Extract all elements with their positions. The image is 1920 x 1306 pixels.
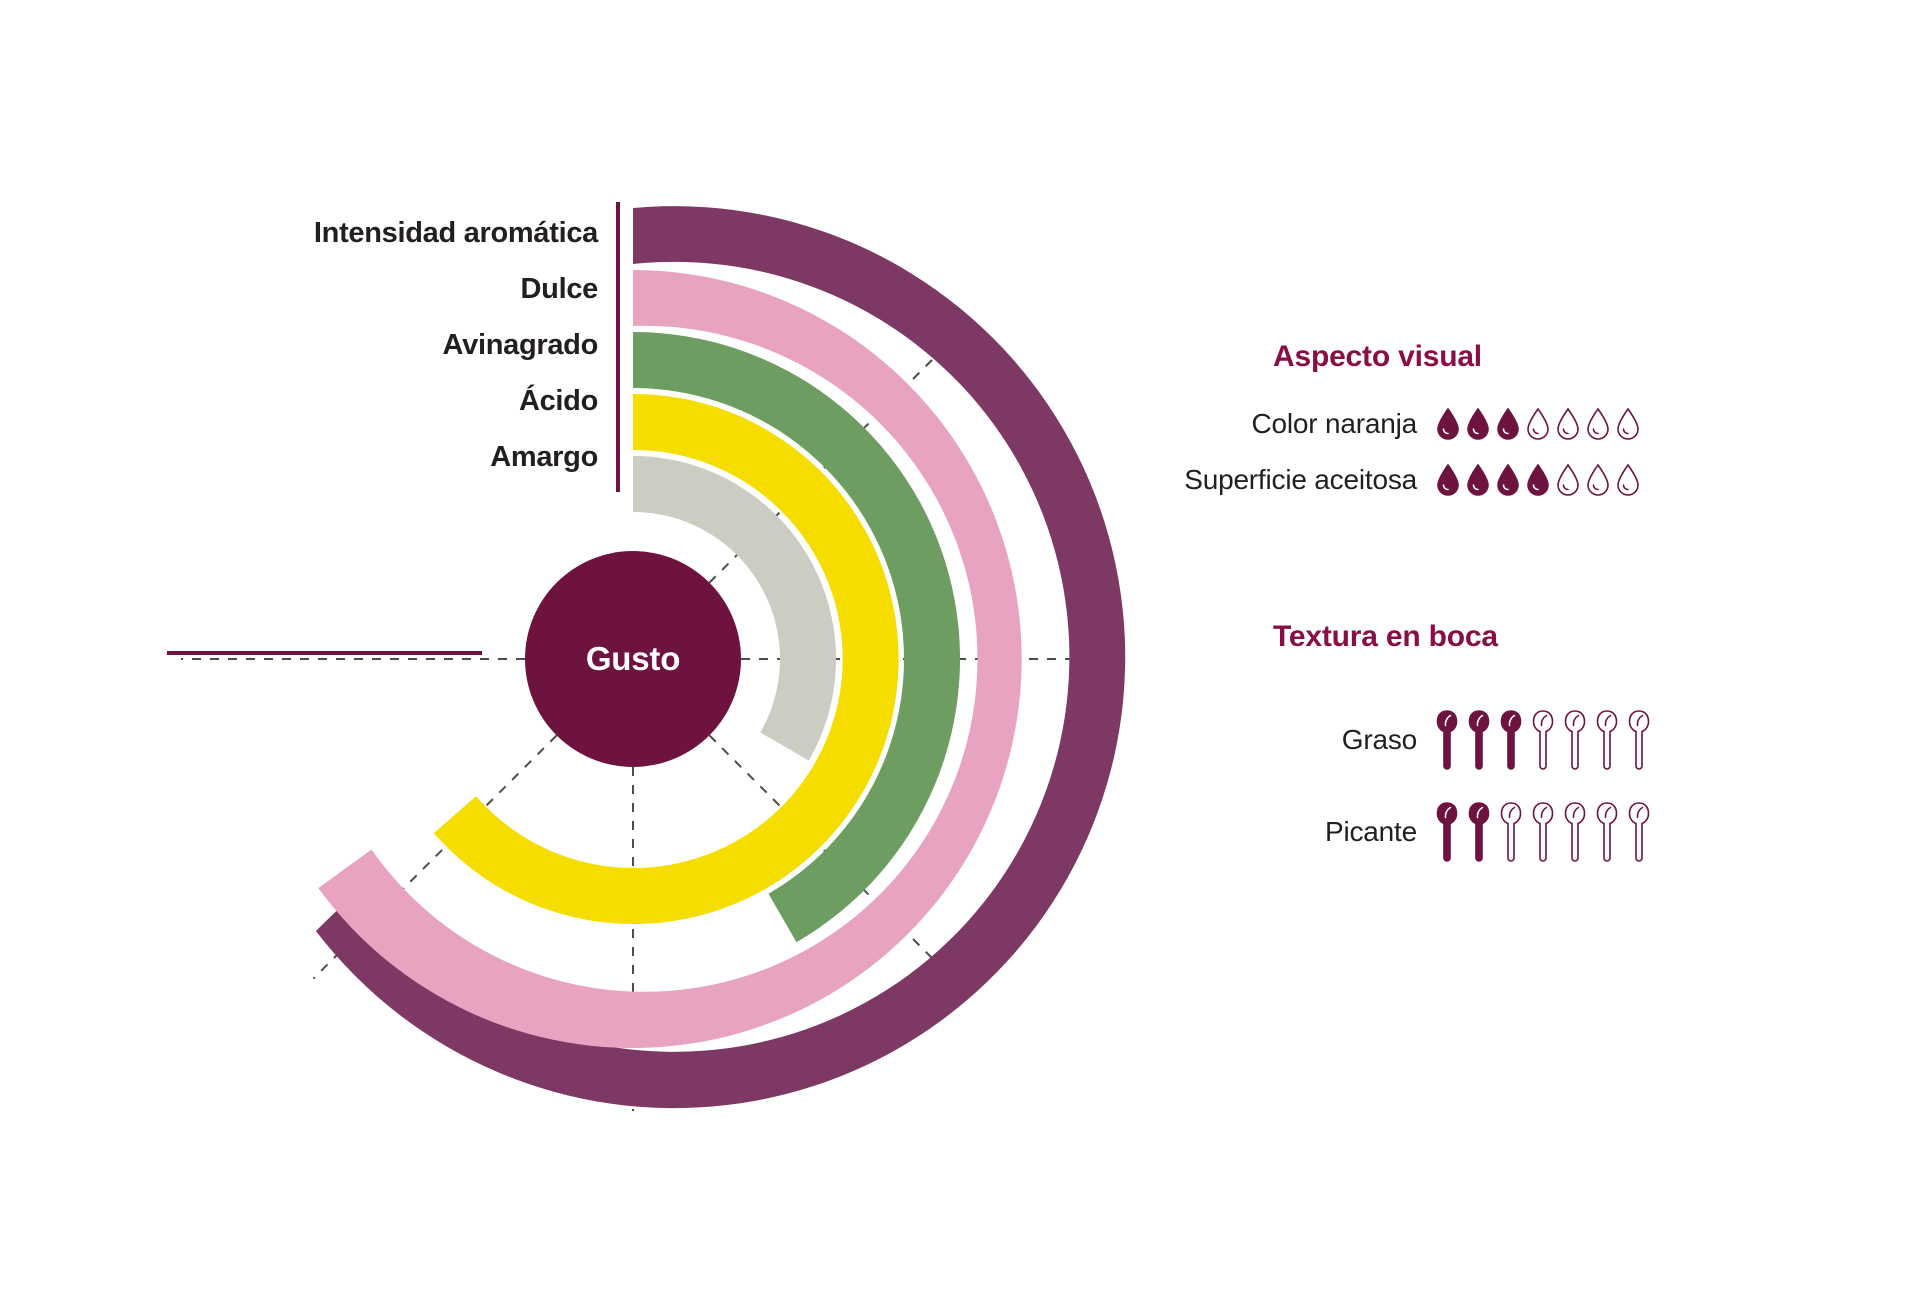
drop-icon [1525,463,1551,497]
rating-row-color-naranja: Color naranja [1160,396,1920,452]
drop-icon [1615,407,1641,441]
rating-drops-color-naranja [1435,407,1641,441]
rating-spoons-graso [1435,710,1651,770]
spoon-icon-filled [1499,710,1523,770]
spoon-icon [1467,710,1491,770]
drop-icon [1555,407,1581,441]
drop-icon-empty [1585,463,1611,497]
drop-icon-filled [1465,463,1491,497]
drop-icon [1465,463,1491,497]
drop-icon-empty [1555,463,1581,497]
drop-icon-filled [1435,463,1461,497]
drop-icon-empty [1525,407,1551,441]
spoon-icon [1435,802,1459,862]
drop-icon-empty [1585,407,1611,441]
spoon-icon [1499,802,1523,862]
drop-icon-filled [1495,407,1521,441]
spoon-icon [1563,802,1587,862]
axis-label-amargo: Amargo [120,429,598,485]
axis-label-dulce: Dulce [120,261,598,317]
aspecto-visual-group: Aspecto visual Color naranja Superficie … [1160,340,1920,508]
drop-icon [1495,463,1521,497]
spoon-icon [1499,710,1523,770]
spoon-icon-filled [1467,710,1491,770]
drop-icon-filled [1495,463,1521,497]
spoon-icon [1595,710,1619,770]
drop-icon-empty [1615,463,1641,497]
rating-label-color-naranja: Color naranja [1160,408,1435,440]
gusto-center-bubble: Gusto [525,551,741,767]
axis-rule [616,202,620,492]
gusto-label: Gusto [586,640,680,678]
rating-drops-superficie-aceitosa [1435,463,1641,497]
spoon-icon-empty [1595,802,1619,862]
aspecto-visual-title: Aspecto visual [1160,340,1920,374]
drop-icon-filled [1435,407,1461,441]
rating-row-superficie-aceitosa: Superficie aceitosa [1160,452,1920,508]
drop-icon-empty [1615,407,1641,441]
spoon-icon [1467,802,1491,862]
drop-icon [1585,407,1611,441]
rating-label-picante: Picante [1160,816,1435,848]
spoon-icon-filled [1467,802,1491,862]
drop-icon [1435,463,1461,497]
spoon-icon-filled [1435,802,1459,862]
drop-icon-filled [1525,463,1551,497]
axis-label-intensidad-aromatica: Intensidad aromática [120,205,598,261]
spoon-icon [1627,802,1651,862]
spoon-icon [1627,710,1651,770]
spoon-icon-empty [1563,710,1587,770]
axis-label-avinagrado: Avinagrado [120,317,598,373]
gusto-rule [167,651,482,655]
rating-label-graso: Graso [1160,724,1435,756]
spoon-icon-empty [1627,710,1651,770]
drop-icon [1465,407,1491,441]
axis-label-list: Intensidad aromática Dulce Avinagrado Ác… [120,205,598,485]
spoon-icon [1595,802,1619,862]
drop-icon [1525,407,1551,441]
spoon-icon-empty [1627,802,1651,862]
spoon-icon-empty [1499,802,1523,862]
rating-label-superficie-aceitosa: Superficie aceitosa [1160,464,1435,496]
radial-chart-panel: Intensidad aromática Dulce Avinagrado Ác… [0,0,1160,1306]
drop-icon [1585,463,1611,497]
ratings-panel: Aspecto visual Color naranja Superficie … [1160,0,1920,1306]
spoon-icon [1563,710,1587,770]
rating-spoons-picante [1435,802,1651,862]
spoon-icon-empty [1563,802,1587,862]
textura-en-boca-title: Textura en boca [1160,620,1920,654]
drop-icon [1555,463,1581,497]
drop-icon-filled [1465,407,1491,441]
spoon-icon-filled [1435,710,1459,770]
textura-en-boca-group: Textura en boca Graso Picante [1160,620,1920,878]
spoon-icon [1435,710,1459,770]
drop-icon [1615,463,1641,497]
rating-row-graso: Graso [1160,694,1920,786]
drop-icon [1435,407,1461,441]
spoon-icon [1531,802,1555,862]
drop-icon [1495,407,1521,441]
drop-icon-empty [1555,407,1581,441]
spoon-icon-empty [1595,710,1619,770]
rating-row-picante: Picante [1160,786,1920,878]
axis-label-acido: Ácido [120,373,598,429]
spoon-icon-empty [1531,710,1555,770]
spoon-icon [1531,710,1555,770]
sensory-profile-infographic: Intensidad aromática Dulce Avinagrado Ác… [0,0,1920,1306]
spoon-icon-empty [1531,802,1555,862]
